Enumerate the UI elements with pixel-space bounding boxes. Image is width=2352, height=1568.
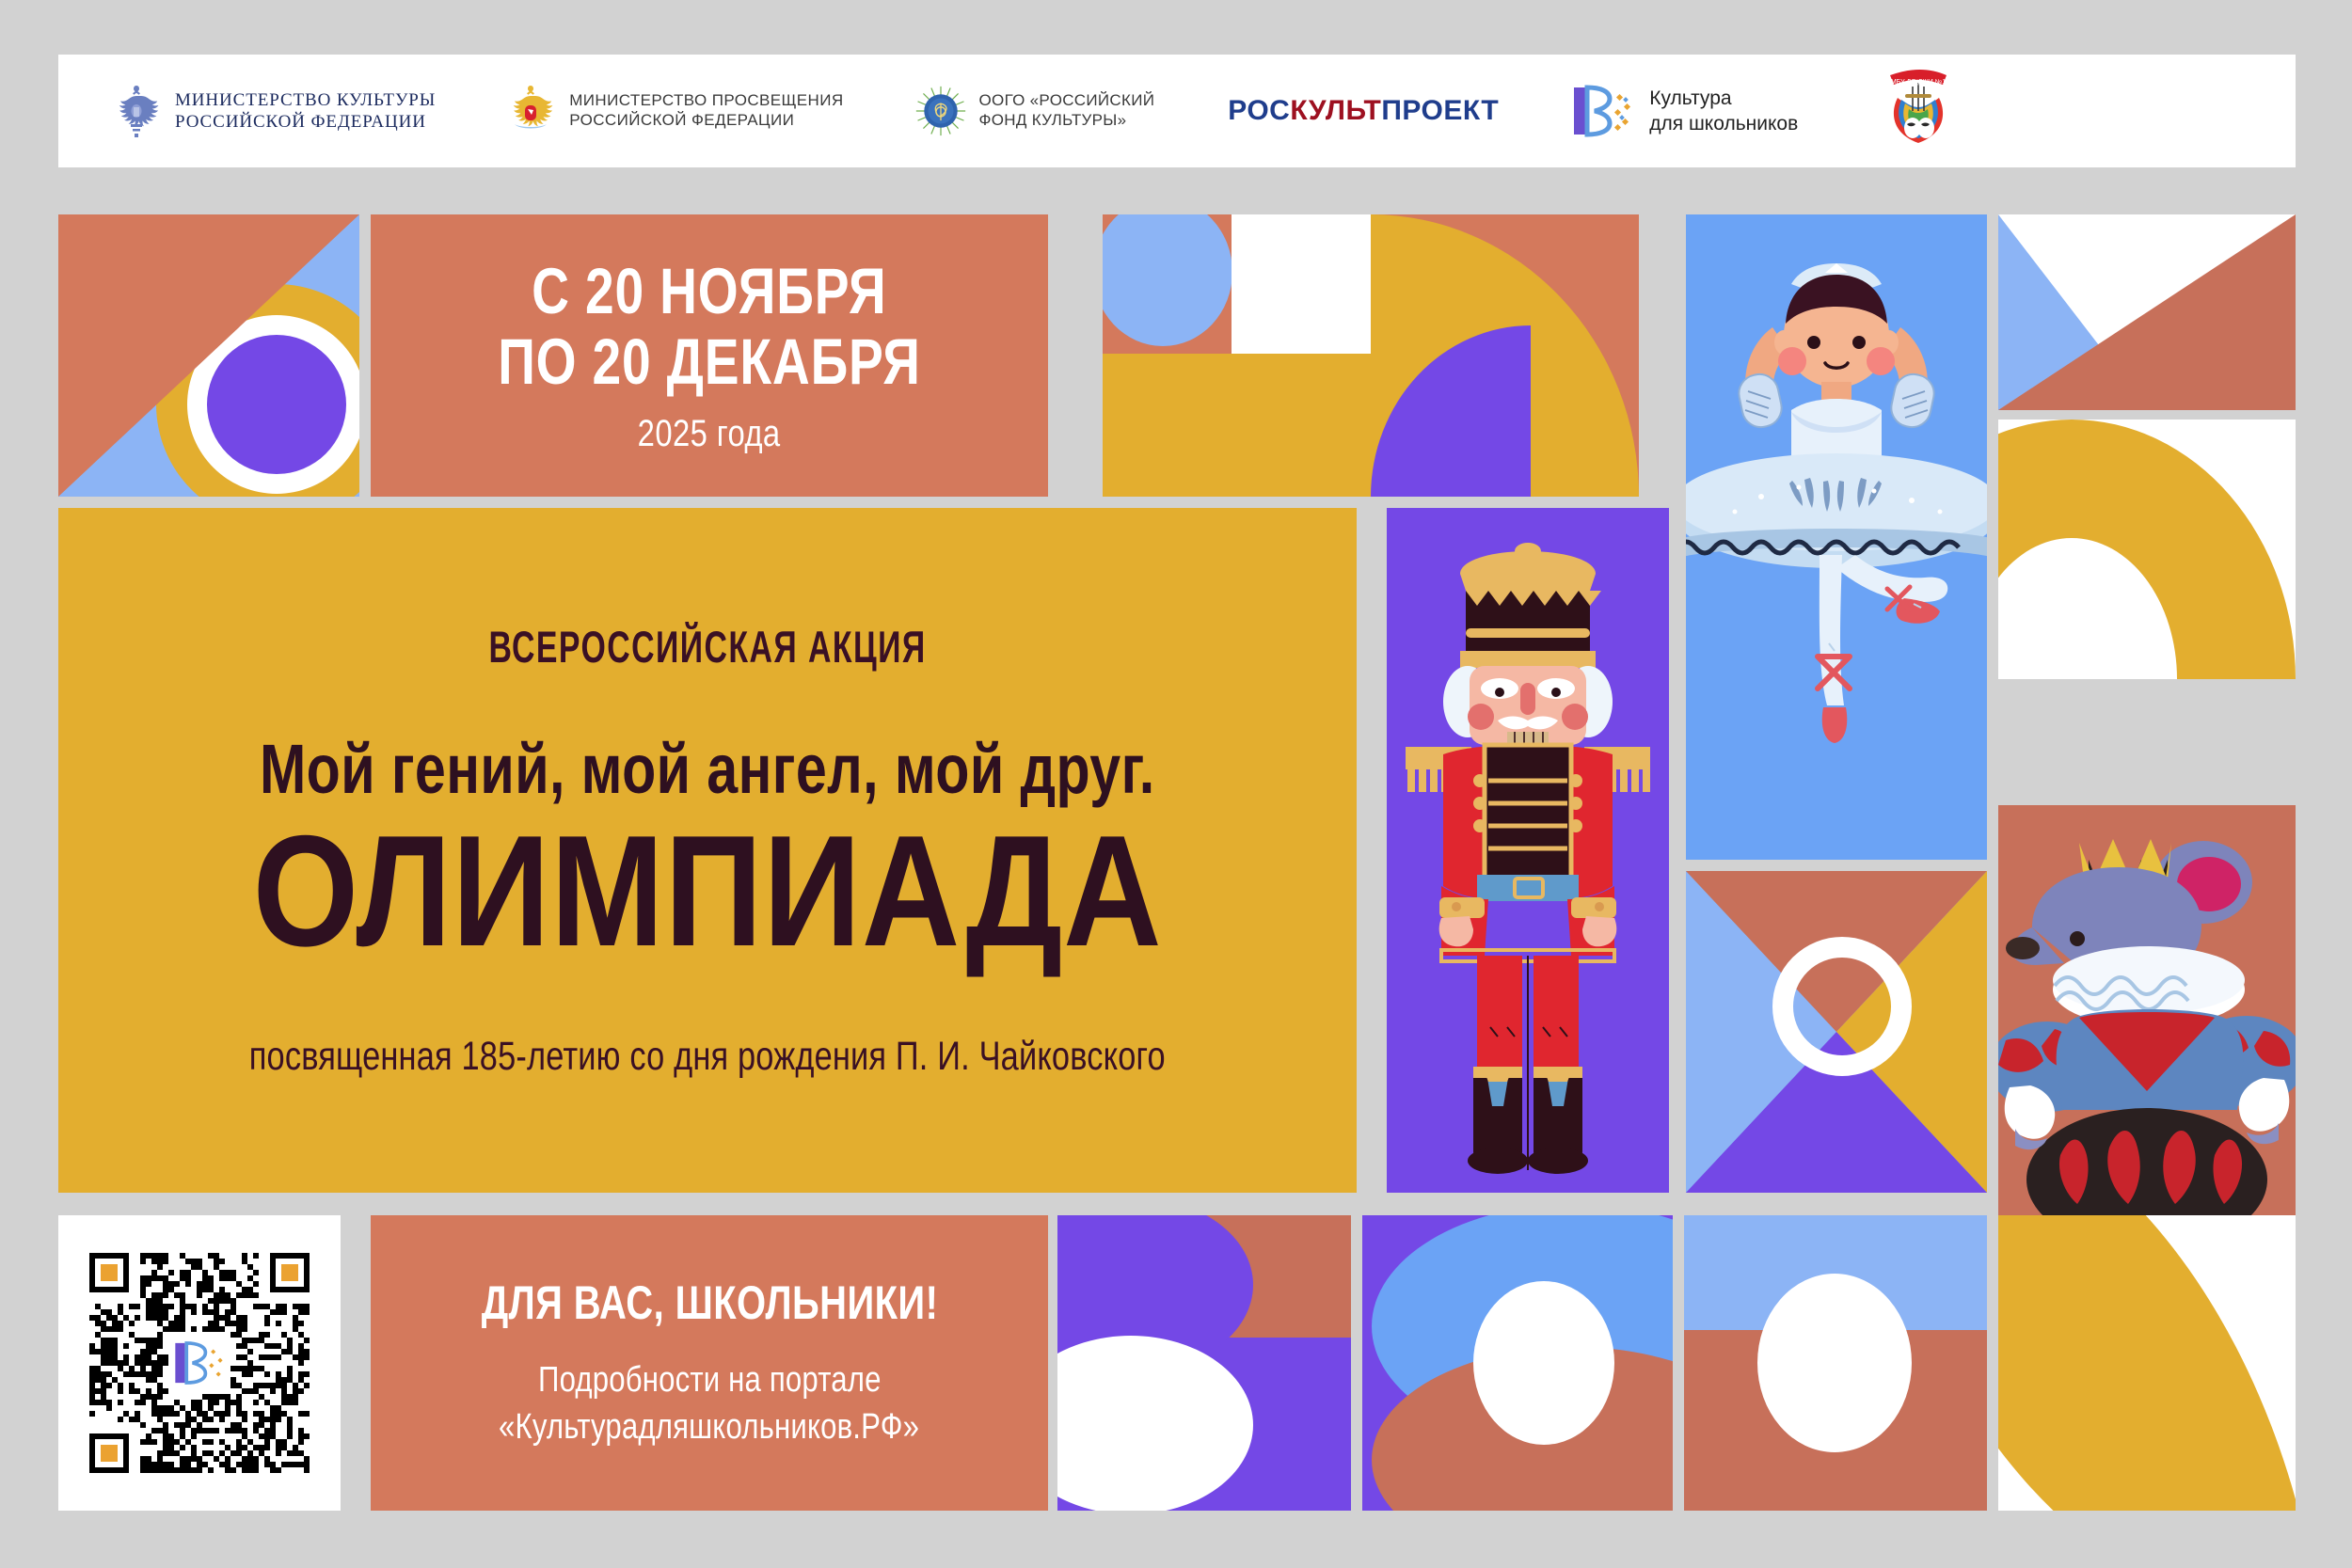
logo-culture-for-schoolchildren: Культура для школьников xyxy=(1568,82,1798,140)
dedication-text: посвященная 185-летию со дня рождения П.… xyxy=(249,1034,1166,1080)
qr-center-logo-icon xyxy=(168,1334,230,1392)
decor-block-purple-white-ellipse xyxy=(1057,1215,1351,1511)
lyre-school-emblem-icon: МБУ ДО ДШИ №1 xyxy=(1873,66,1963,156)
decor-block-triangles-blue-orange xyxy=(1998,214,2296,410)
date-range-line2: ПО 20 ДЕКАБРЯ xyxy=(498,326,921,397)
illustration-ballerina xyxy=(1686,214,1987,860)
cta-line-1: Подробности на портале xyxy=(538,1356,882,1403)
logo-label: ООГО «РОССИЙСКИЙ ФОНД КУЛЬТУРЫ» xyxy=(979,91,1155,130)
logo-music-school-emblem: МБУ ДО ДШИ №1 xyxy=(1873,66,1963,156)
logo-ministry-of-education: МИНИСТЕРСТВО ПРОСВЕЩЕНИЯ РОССИЙСКОЙ ФЕДЕ… xyxy=(505,81,843,141)
logo-ministry-of-culture: МИНИСТЕРСТВО КУЛЬТУРЫ РОССИЙСКОЙ ФЕДЕРАЦ… xyxy=(111,81,436,141)
slogan-text: Мой гений, мой ангел, мой друг. xyxy=(260,729,1155,809)
decor-block-yellow-arc xyxy=(1998,420,2296,679)
eagle-emblem-gold-icon xyxy=(505,81,556,141)
decor-block-four-triangles-ring xyxy=(1686,871,1987,1193)
headline-text: ОЛИМПИАДА xyxy=(253,816,1163,967)
roskultproekt-wordmark: РОСКУЛЬТПРОЕКТ xyxy=(1228,95,1499,127)
square-white xyxy=(1232,214,1371,354)
decor-block-blue-orange-ellipse xyxy=(1362,1215,1673,1511)
logo-label: МИНИСТЕРСТВО ПРОСВЕЩЕНИЯ РОССИЙСКОЙ ФЕДЕ… xyxy=(569,91,843,130)
logo-label: МИНИСТЕРСТВО КУЛЬТУРЫ РОССИЙСКОЙ ФЕДЕРАЦ… xyxy=(175,89,436,133)
eagle-emblem-blue-icon xyxy=(111,81,162,141)
main-title-panel: ВСЕРОССИЙСКАЯ АКЦИЯ Мой гений, мой ангел… xyxy=(58,508,1357,1193)
circle-white xyxy=(1757,1274,1912,1452)
kb-bracket-logo-icon xyxy=(1568,82,1636,140)
logo-label: Культура для школьников xyxy=(1649,86,1798,137)
rect-yellow xyxy=(1103,354,1371,497)
poster-root: МИНИСТЕРСТВО КУЛЬТУРЫ РОССИЙСКОЙ ФЕДЕРАЦ… xyxy=(0,0,2352,1568)
cta-line-2: «Культурадляшкольников.РФ» xyxy=(499,1403,919,1450)
date-range-line1: С 20 НОЯБРЯ xyxy=(532,256,886,326)
qr-code[interactable] xyxy=(89,1253,310,1473)
decor-block-quarter-rings xyxy=(58,214,359,497)
qr-code-panel[interactable] xyxy=(58,1215,341,1511)
ring-white xyxy=(1772,937,1912,1076)
ellipse-white xyxy=(1473,1281,1614,1445)
decor-block-blue-orange-circle xyxy=(1684,1215,1987,1511)
leaf-yellow xyxy=(1998,1215,2296,1511)
logo-roskultproekt: РОСКУЛЬТПРОЕКТ xyxy=(1228,95,1499,127)
decor-block-circle-square-arc xyxy=(1103,214,1639,497)
ballerina-icon xyxy=(1686,214,1987,860)
illustration-nutcracker xyxy=(1387,508,1669,1193)
ring-purple xyxy=(207,335,346,474)
date-panel: С 20 НОЯБРЯ ПО 20 ДЕКАБРЯ 2025 года xyxy=(371,214,1048,497)
partner-logo-bar: МИНИСТЕРСТВО КУЛЬТУРЫ РОССИЙСКОЙ ФЕДЕРАЦ… xyxy=(58,55,2296,167)
starburst-medallion-icon xyxy=(915,81,966,141)
svg-text:МБУ ДО ДШИ №1: МБУ ДО ДШИ №1 xyxy=(1891,79,1946,86)
logo-russian-culture-fund: ООГО «РОССИЙСКИЙ ФОНД КУЛЬТУРЫ» xyxy=(915,81,1155,141)
cta-title: ДЛЯ ВАС, ШКОЛЬНИКИ! xyxy=(481,1275,938,1330)
kicker-text: ВСЕРОССИЙСКАЯ АКЦИЯ xyxy=(488,621,926,673)
decor-block-yellow-leaf xyxy=(1998,1215,2296,1511)
arc-yellow xyxy=(1998,420,2296,679)
circle-blue xyxy=(1103,214,1232,346)
date-year: 2025 года xyxy=(638,413,781,455)
nutcracker-soldier-icon xyxy=(1387,508,1669,1193)
ellipse-white xyxy=(1057,1336,1253,1511)
cta-panel: ДЛЯ ВАС, ШКОЛЬНИКИ! Подробности на порта… xyxy=(371,1215,1048,1511)
